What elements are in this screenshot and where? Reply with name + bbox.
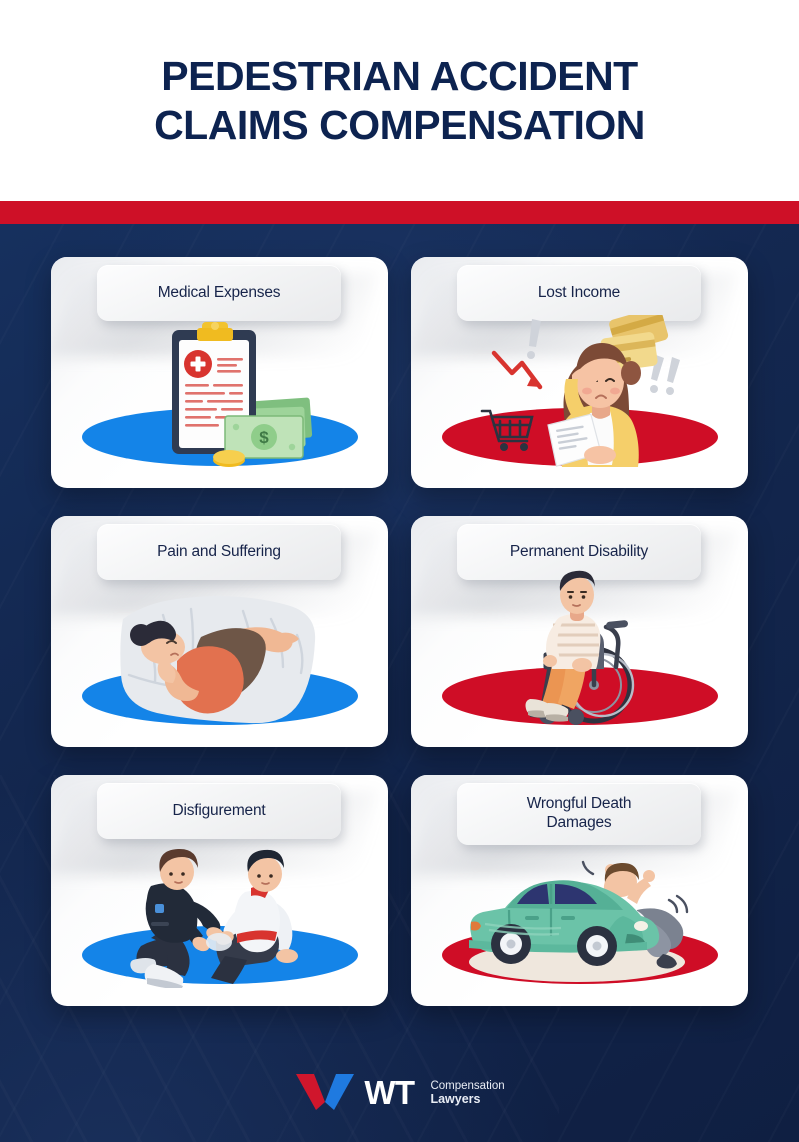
card-label-line-1: Wrongful Death bbox=[527, 795, 632, 812]
card-pain-and-suffering[interactable]: Pain and Suffering bbox=[51, 516, 388, 747]
card-label-line-2: Damages bbox=[547, 814, 612, 831]
poster-header: PEDESTRIAN ACCIDENT CLAIMS COMPENSATION bbox=[0, 0, 799, 201]
banner-plate: Wrongful Death Damages bbox=[457, 783, 701, 845]
card-wrongful-death-damages[interactable]: Wrongful Death Damages bbox=[411, 775, 748, 1006]
card-banner: Lost Income bbox=[457, 265, 701, 321]
card-illustration-stage bbox=[51, 579, 388, 747]
banner-plate: Medical Expenses bbox=[97, 265, 341, 321]
wt-chevron-logo-icon bbox=[294, 1072, 356, 1112]
medical-clipboard-illustration: $ bbox=[51, 320, 388, 470]
card-illustration-stage bbox=[51, 838, 388, 1006]
card-banner: Wrongful Death Damages bbox=[457, 783, 701, 845]
card-banner: Medical Expenses bbox=[97, 265, 341, 321]
logo-tagline-line-1: Compensation bbox=[430, 1080, 504, 1093]
logo-tagline: Compensation Lawyers bbox=[430, 1078, 504, 1107]
card-label: Medical Expenses bbox=[158, 284, 281, 303]
banner-plate: Lost Income bbox=[457, 265, 701, 321]
page-title-line-2: CLAIMS COMPENSATION bbox=[50, 101, 750, 149]
banner-plate: Disfigurement bbox=[97, 783, 341, 839]
card-label: Disfigurement bbox=[172, 802, 265, 821]
card-label: Wrongful Death Damages bbox=[527, 795, 632, 833]
person-in-bed-illustration bbox=[51, 579, 388, 729]
card-lost-income[interactable]: Lost Income bbox=[411, 257, 748, 488]
svg-text:$: $ bbox=[259, 428, 269, 447]
card-label: Permanent Disability bbox=[510, 543, 648, 562]
card-disfigurement[interactable]: Disfigurement bbox=[51, 775, 388, 1006]
card-illustration-stage: $ bbox=[51, 320, 388, 488]
paramedic-treating-leg-illustration bbox=[51, 838, 388, 988]
infographic-poster: PEDESTRIAN ACCIDENT CLAIMS COMPENSATION … bbox=[0, 0, 799, 1142]
card-illustration-stage bbox=[411, 579, 748, 747]
red-divider-bar bbox=[0, 201, 799, 224]
car-accident-illustration bbox=[411, 838, 748, 988]
card-banner: Pain and Suffering bbox=[97, 524, 341, 580]
card-label: Pain and Suffering bbox=[157, 543, 281, 562]
stressed-woman-illustration bbox=[411, 315, 748, 470]
card-permanent-disability[interactable]: Permanent Disability bbox=[411, 516, 748, 747]
wheelchair-user-illustration bbox=[411, 569, 748, 729]
page-title-line-1: PEDESTRIAN ACCIDENT bbox=[50, 52, 750, 100]
card-illustration-stage bbox=[411, 320, 748, 488]
card-label: Lost Income bbox=[538, 284, 620, 303]
card-illustration-stage bbox=[411, 838, 748, 1006]
banner-plate: Pain and Suffering bbox=[97, 524, 341, 580]
compensation-cards-grid: Medical Expenses bbox=[51, 257, 748, 1006]
page-title: PEDESTRIAN ACCIDENT CLAIMS COMPENSATION bbox=[50, 52, 750, 149]
footer-logo: WT Compensation Lawyers bbox=[0, 1072, 799, 1112]
card-banner: Disfigurement bbox=[97, 783, 341, 839]
logo-wordmark: WT bbox=[364, 1076, 414, 1109]
logo-tagline-line-2: Lawyers bbox=[430, 1092, 504, 1106]
card-medical-expenses[interactable]: Medical Expenses bbox=[51, 257, 388, 488]
